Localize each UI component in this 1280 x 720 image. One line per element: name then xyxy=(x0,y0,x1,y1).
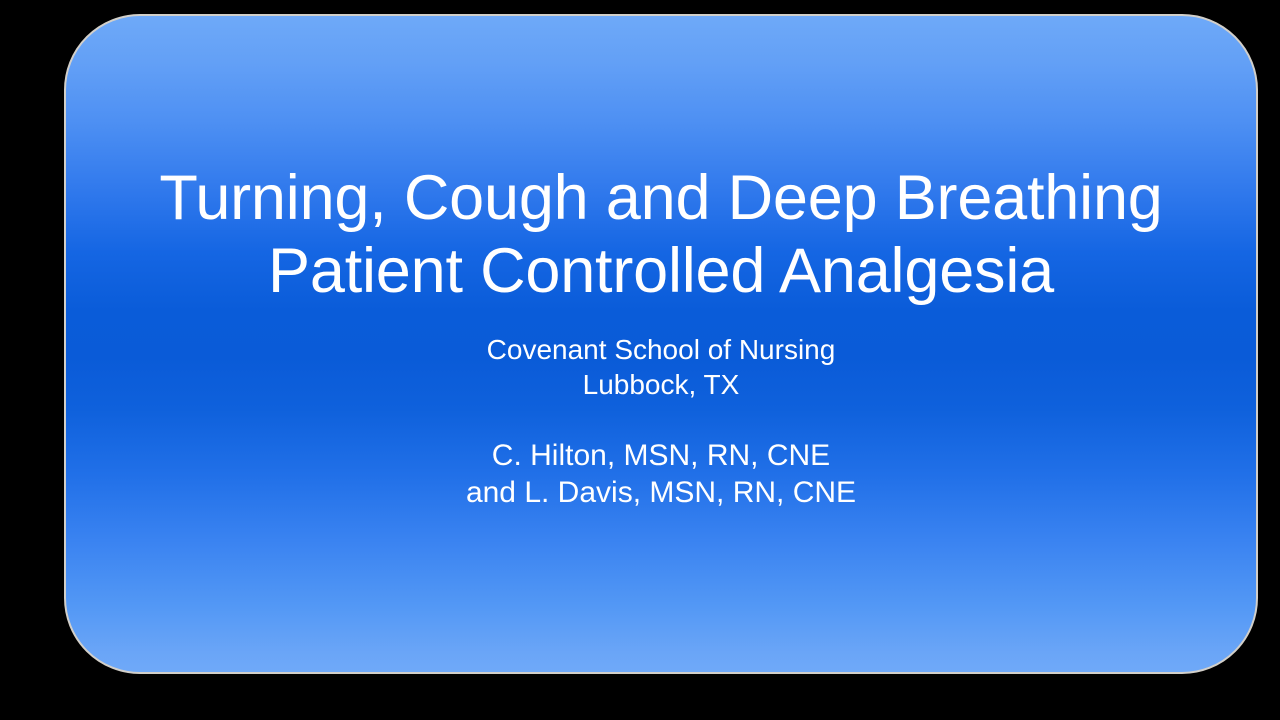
slide-subtitle-block: Covenant School of Nursing Lubbock, TX C… xyxy=(66,332,1256,511)
slide-title: Turning, Cough and Deep Breathing Patien… xyxy=(66,162,1256,308)
subtitle-spacer xyxy=(66,402,1256,437)
slide-title-line-1: Turning, Cough and Deep Breathing xyxy=(66,162,1256,235)
slide-body: Turning, Cough and Deep Breathing Patien… xyxy=(64,14,1258,674)
author-line-2: and L. Davis, MSN, RN, CNE xyxy=(66,474,1256,511)
slide-title-line-2: Patient Controlled Analgesia xyxy=(66,235,1256,308)
slide-canvas: Turning, Cough and Deep Breathing Patien… xyxy=(0,0,1280,720)
slide-text-block: Turning, Cough and Deep Breathing Patien… xyxy=(66,162,1256,511)
organization-location: Lubbock, TX xyxy=(66,367,1256,402)
author-line-1: C. Hilton, MSN, RN, CNE xyxy=(66,437,1256,474)
organization-name: Covenant School of Nursing xyxy=(66,332,1256,367)
